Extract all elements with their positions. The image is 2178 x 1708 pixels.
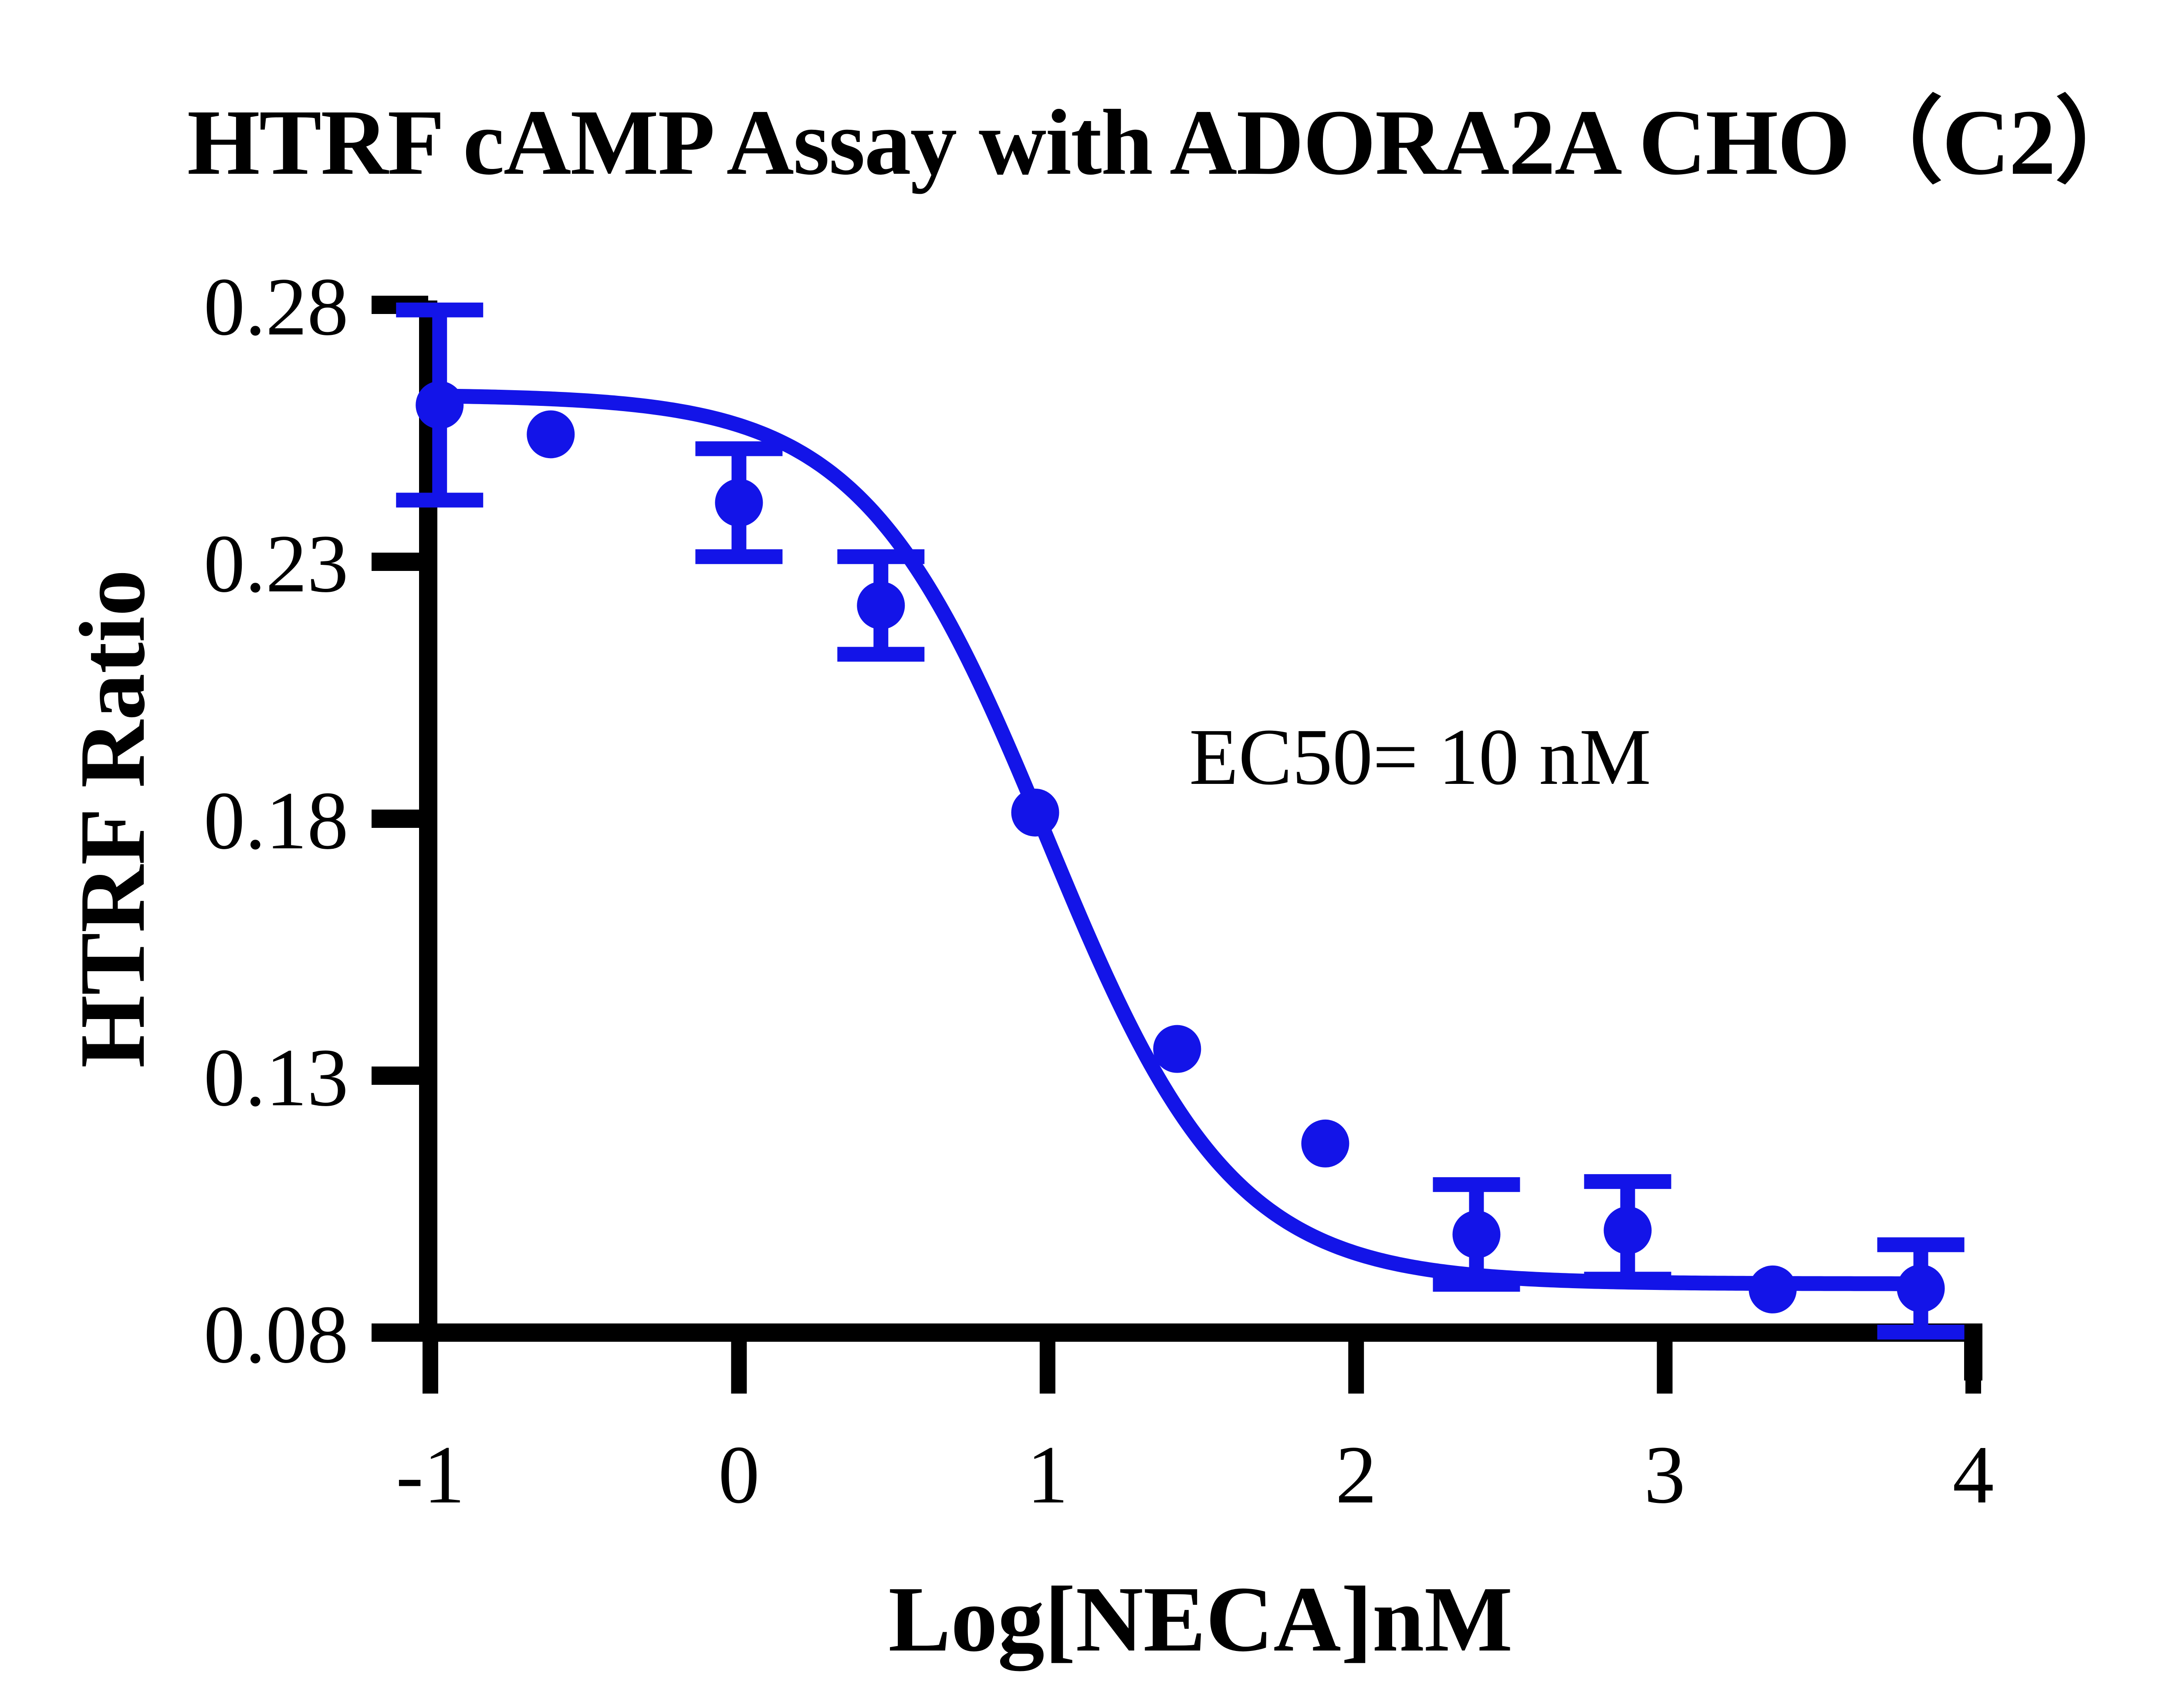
figure-canvas: HTRF cAMP Assay with ADORA2A CHO（C2） 0.0… bbox=[0, 0, 2178, 1708]
data-point-marker bbox=[715, 479, 763, 527]
y-axis-title: HTRF Ratio bbox=[60, 570, 164, 1068]
data-point-marker bbox=[1153, 1025, 1201, 1073]
chart-plot-area: 0.080.130.180.230.28 -101234 Log[NECA]nM… bbox=[0, 0, 2178, 1708]
data-point-marker bbox=[1011, 789, 1059, 837]
data-point-marker bbox=[1749, 1266, 1797, 1313]
data-points bbox=[416, 381, 1945, 1313]
fit-curve bbox=[440, 396, 1921, 1283]
data-point-marker bbox=[1604, 1206, 1652, 1254]
fit-curve-path bbox=[440, 396, 1921, 1283]
x-axis-tick-label: 3 bbox=[1644, 1429, 1685, 1521]
data-point-marker bbox=[416, 381, 463, 429]
x-axis-title: Log[NECA]nM bbox=[888, 1567, 1512, 1671]
y-axis-tick-label: 0.23 bbox=[204, 518, 349, 610]
x-axis-tick-label: 4 bbox=[1953, 1429, 1994, 1521]
x-axis-tick-label: -1 bbox=[396, 1429, 465, 1521]
data-point-marker bbox=[1301, 1120, 1349, 1168]
y-axis-tick-label: 0.18 bbox=[204, 775, 349, 867]
data-point-marker bbox=[857, 581, 905, 629]
y-axis-tick-label: 0.28 bbox=[204, 261, 349, 353]
x-axis-tick-labels: -101234 bbox=[396, 1429, 1994, 1521]
x-axis-tick-label: 2 bbox=[1336, 1429, 1377, 1521]
error-bars bbox=[396, 310, 1964, 1332]
y-axis-tick-labels: 0.080.130.180.230.28 bbox=[204, 261, 349, 1381]
y-axis-tick-label: 0.08 bbox=[204, 1289, 349, 1381]
data-point-marker bbox=[1452, 1211, 1500, 1259]
data-point-marker bbox=[1897, 1265, 1945, 1313]
y-axis-tick-label: 0.13 bbox=[204, 1032, 349, 1124]
ec50-annotation: EC50= 10 nM bbox=[1189, 712, 1651, 802]
x-axis-tick-label: 0 bbox=[718, 1429, 760, 1521]
data-point-marker bbox=[527, 410, 575, 458]
x-axis-tick-label: 1 bbox=[1027, 1429, 1068, 1521]
